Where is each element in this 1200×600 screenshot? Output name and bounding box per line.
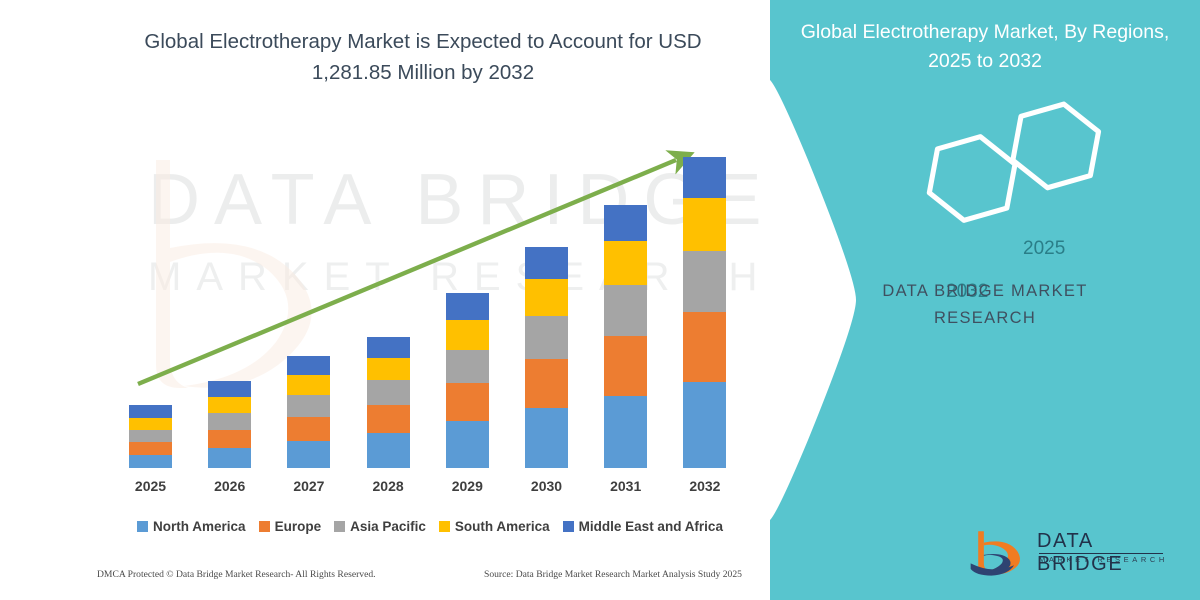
stacked-bar-chart: 20252026202720282029203020312032 North A… xyxy=(0,0,860,600)
bar-segment-2032-europe[interactable] xyxy=(683,312,726,382)
bar-segment-2030-asia-pacific[interactable] xyxy=(525,316,568,359)
logo-divider xyxy=(1039,553,1163,554)
bar-segment-2032-north-america[interactable] xyxy=(683,382,726,468)
bar-segment-2026-south-america[interactable] xyxy=(208,397,251,413)
bar-segment-2026-middle-east-and-africa[interactable] xyxy=(208,381,251,397)
bar-segment-2030-middle-east-and-africa[interactable] xyxy=(525,247,568,279)
legend-swatch-icon xyxy=(259,521,270,532)
bar-segment-2030-south-america[interactable] xyxy=(525,279,568,316)
legend-item-asia-pacific[interactable]: Asia Pacific xyxy=(334,519,426,534)
hex-label-start: 2025 xyxy=(1023,238,1065,260)
bar-segment-2025-asia-pacific[interactable] xyxy=(129,430,172,442)
bar-segment-2032-middle-east-and-africa[interactable] xyxy=(683,157,726,198)
bar-segment-2030-europe[interactable] xyxy=(525,359,568,408)
hexagon-outlines xyxy=(860,100,1120,240)
legend-label: Asia Pacific xyxy=(350,519,426,534)
legend-label: Middle East and Africa xyxy=(579,519,723,534)
panel-title: Global Electrotherapy Market, By Regions… xyxy=(790,18,1180,77)
legend-swatch-icon xyxy=(439,521,450,532)
bar-2028[interactable] xyxy=(367,337,410,468)
bar-2026[interactable] xyxy=(208,381,251,468)
bar-segment-2032-south-america[interactable] xyxy=(683,198,726,251)
bar-segment-2025-europe[interactable] xyxy=(129,442,172,455)
logo-mark-icon xyxy=(965,527,1031,577)
right-panel: Global Electrotherapy Market, By Regions… xyxy=(770,0,1200,600)
x-axis-label-2025: 2025 xyxy=(111,478,191,494)
bar-segment-2027-north-america[interactable] xyxy=(287,441,330,468)
legend-swatch-icon xyxy=(137,521,148,532)
legend-swatch-icon xyxy=(563,521,574,532)
panel-brand-line1: DATA BRIDGE MARKET xyxy=(882,282,1087,300)
bar-2029[interactable] xyxy=(446,293,489,468)
bar-segment-2028-middle-east-and-africa[interactable] xyxy=(367,337,410,358)
bar-2032[interactable] xyxy=(683,157,726,468)
bar-segment-2029-north-america[interactable] xyxy=(446,421,489,468)
bar-segment-2030-north-america[interactable] xyxy=(525,408,568,468)
x-axis-label-2030: 2030 xyxy=(507,478,587,494)
bar-2027[interactable] xyxy=(287,356,330,468)
bar-segment-2027-asia-pacific[interactable] xyxy=(287,395,330,417)
bar-segment-2031-middle-east-and-africa[interactable] xyxy=(604,205,647,241)
x-axis-label-2031: 2031 xyxy=(586,478,666,494)
bar-segment-2027-europe[interactable] xyxy=(287,417,330,441)
legend-label: North America xyxy=(153,519,246,534)
data-bridge-logo: DATA BRIDGE MARKET RESEARCH xyxy=(965,527,1180,579)
bar-2030[interactable] xyxy=(525,247,568,468)
bar-segment-2029-asia-pacific[interactable] xyxy=(446,350,489,383)
x-axis-label-2026: 2026 xyxy=(190,478,270,494)
legend-item-middle-east-and-africa[interactable]: Middle East and Africa xyxy=(563,519,723,534)
growth-arrow xyxy=(0,0,860,600)
bar-segment-2031-north-america[interactable] xyxy=(604,396,647,468)
panel-brand: DATA BRIDGE MARKET RESEARCH xyxy=(790,278,1180,332)
legend-item-south-america[interactable]: South America xyxy=(439,519,550,534)
bar-segment-2032-asia-pacific[interactable] xyxy=(683,251,726,312)
bar-2031[interactable] xyxy=(604,205,647,468)
chart-legend: North AmericaEuropeAsia PacificSouth Ame… xyxy=(0,519,860,534)
bar-segment-2031-europe[interactable] xyxy=(604,336,647,396)
bar-segment-2031-asia-pacific[interactable] xyxy=(604,285,647,336)
legend-item-europe[interactable]: Europe xyxy=(259,519,322,534)
bar-segment-2026-europe[interactable] xyxy=(208,430,251,448)
footer-copyright: DMCA Protected © Data Bridge Market Rese… xyxy=(97,569,376,580)
bar-segment-2029-south-america[interactable] xyxy=(446,320,489,350)
legend-label: South America xyxy=(455,519,550,534)
logo-tagline: MARKET RESEARCH xyxy=(1039,555,1168,564)
bar-segment-2028-south-america[interactable] xyxy=(367,358,410,380)
x-axis-label-2029: 2029 xyxy=(427,478,507,494)
x-axis-label-2027: 2027 xyxy=(269,478,349,494)
bar-segment-2025-north-america[interactable] xyxy=(129,455,172,468)
bar-segment-2025-middle-east-and-africa[interactable] xyxy=(129,405,172,418)
panel-brand-line2: RESEARCH xyxy=(934,309,1036,327)
x-axis-label-2032: 2032 xyxy=(665,478,745,494)
bar-segment-2027-south-america[interactable] xyxy=(287,375,330,395)
bar-segment-2031-south-america[interactable] xyxy=(604,241,647,285)
bar-segment-2025-south-america[interactable] xyxy=(129,418,172,430)
bar-segment-2029-europe[interactable] xyxy=(446,383,489,421)
bar-2025[interactable] xyxy=(129,405,172,468)
bar-segment-2028-europe[interactable] xyxy=(367,405,410,433)
bar-segment-2026-north-america[interactable] xyxy=(208,448,251,468)
footer-source: Source: Data Bridge Market Research Mark… xyxy=(484,569,742,580)
x-axis-label-2028: 2028 xyxy=(348,478,428,494)
year-hexagons: 2025 2032 xyxy=(860,100,1120,240)
bar-segment-2028-north-america[interactable] xyxy=(367,433,410,468)
infographic-canvas: DATA BRIDGE MARKET RESEARCH Global Elect… xyxy=(0,0,1200,600)
legend-label: Europe xyxy=(275,519,322,534)
legend-swatch-icon xyxy=(334,521,345,532)
bar-segment-2026-asia-pacific[interactable] xyxy=(208,413,251,430)
bar-segment-2029-middle-east-and-africa[interactable] xyxy=(446,293,489,320)
bar-segment-2027-middle-east-and-africa[interactable] xyxy=(287,356,330,375)
legend-item-north-america[interactable]: North America xyxy=(137,519,246,534)
bar-segment-2028-asia-pacific[interactable] xyxy=(367,380,410,405)
